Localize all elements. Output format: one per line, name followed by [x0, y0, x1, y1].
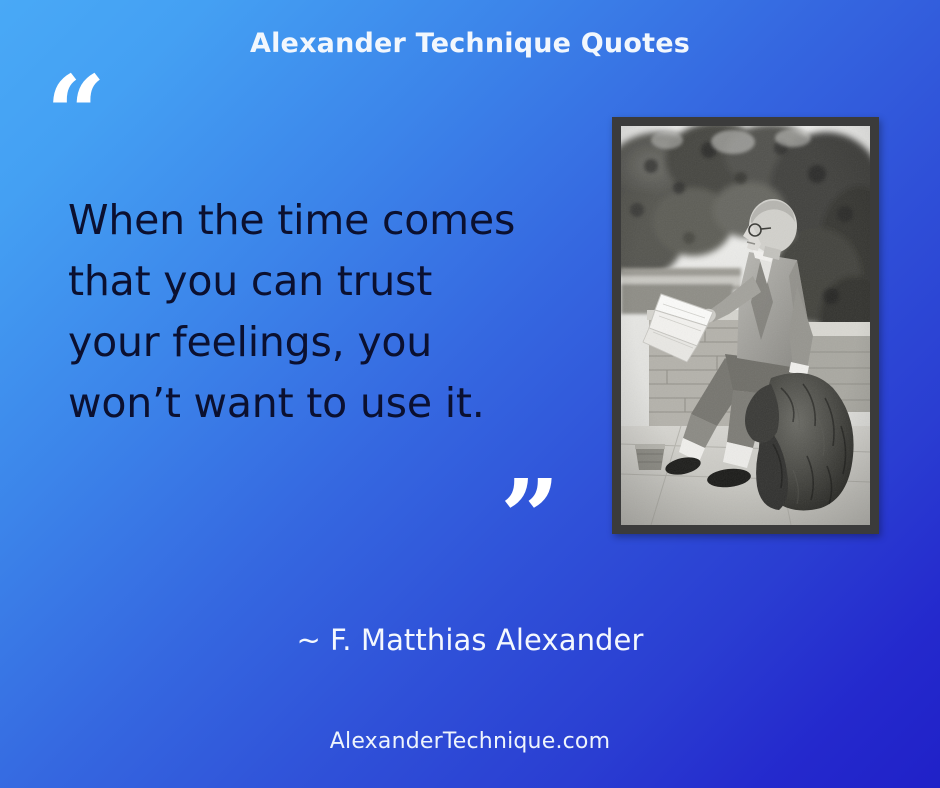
page-title: Alexander Technique Quotes	[0, 28, 940, 59]
quote-line: that you can trust	[68, 251, 568, 312]
quote-text: When the time comes that you can trust y…	[68, 190, 568, 434]
quote-card: Alexander Technique Quotes “ When the ti…	[0, 0, 940, 788]
quote-line: your feelings, you	[68, 312, 568, 373]
portrait-photo-illustration	[621, 126, 870, 525]
close-quote-icon: ”	[500, 466, 560, 570]
quote-line: When the time comes	[68, 190, 568, 251]
quote-line: won’t want to use it.	[68, 373, 568, 434]
open-quote-icon: “	[46, 62, 106, 166]
photo-frame	[612, 117, 879, 534]
portrait-photo	[621, 126, 870, 525]
footer-website: AlexanderTechnique.com	[0, 729, 940, 754]
quote-attribution: ~ F. Matthias Alexander	[0, 623, 940, 657]
